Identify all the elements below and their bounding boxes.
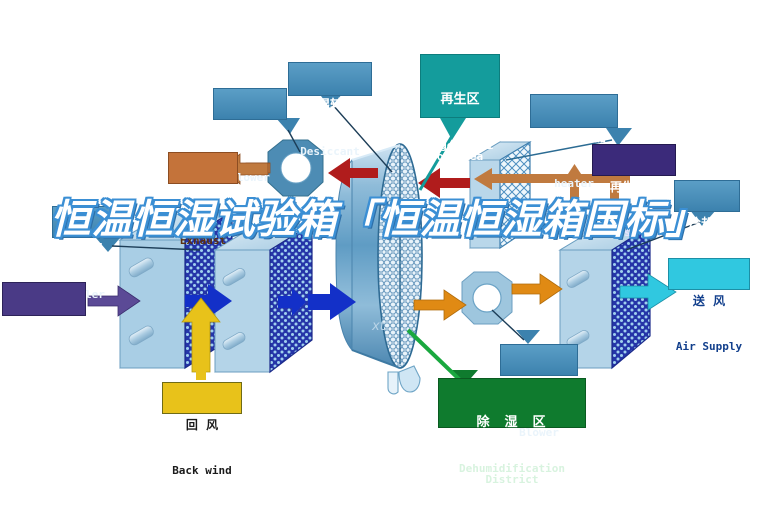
callout-regen-blower[interactable]: 再生风机 Blower [213,88,287,120]
callout-cooler-right[interactable]: 冷却器 Cooler [674,180,740,212]
water-drop-icon [388,366,420,394]
callout-exhaust[interactable]: 再生风出 Exhaust [168,152,238,184]
callout-dehum-blower[interactable]: 除湿风机 Blower [500,344,578,376]
arrow-dry-orange-2 [512,274,562,304]
dehumidifier-diagram: xt [0,0,757,488]
callout-back-wind[interactable]: 回 风 Back wind [162,382,242,414]
callout-regen-heater[interactable]: 再生加热器 heater [530,94,618,128]
dehum-blower-unit [462,272,512,324]
callout-air-supply[interactable]: 送 风 Air Supply [668,258,750,290]
callout-fresh-air[interactable]: 新 风 Fresh Air [2,282,86,316]
callout-desiccant[interactable]: 除湿转轮 Desiccant [288,62,372,96]
callout-regen-area[interactable]: 再生区 Regenerati on Area [420,54,500,118]
callout-dehum-district[interactable]: 除 湿 区 Dehumidification District [438,378,586,428]
callout-cooler-left[interactable]: 冷却器 Cooler [52,206,118,238]
rotor-watermark-text: xt [371,319,386,334]
callout-regen-inlet[interactable]: 再生风进 Fresh Air [592,144,676,176]
arrow-dry-orange [414,290,466,320]
